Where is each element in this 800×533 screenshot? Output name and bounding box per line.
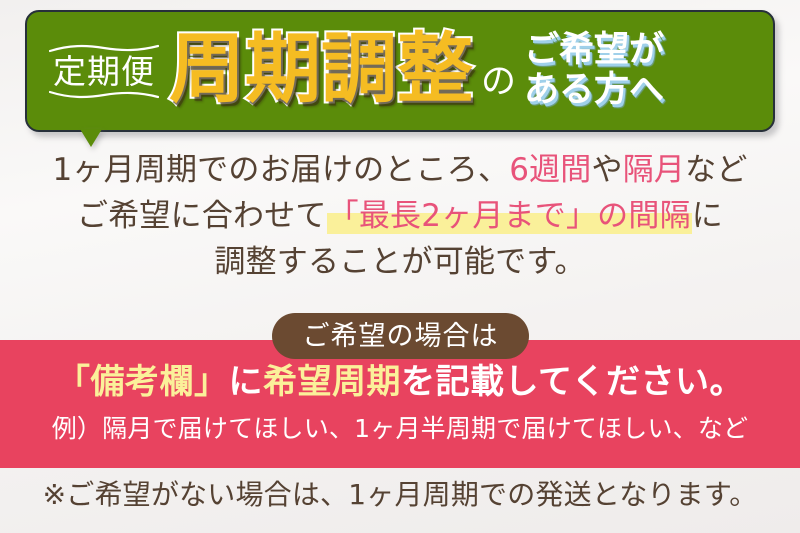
promo-banner: 定期便 周期調整 の ご希望が ある方へ 1ヶ月周期でのお届けのところ、6週間や…: [0, 0, 800, 533]
pink-example-text: 例）隔月で届けてほしい、1ヶ月半周期で届けてほしい、など: [0, 416, 800, 441]
body-line2-part-c: に: [692, 198, 723, 234]
header-wish-line-1: ご希望が: [524, 32, 664, 70]
pink-main-part-b: に: [229, 362, 264, 402]
body-copy-line-2: ご希望に合わせて「最長2ヶ月まで」の間隔に: [0, 194, 800, 240]
wave-rule-bottom-icon: [49, 89, 159, 99]
body-line1-accent-6weeks: 6週間: [509, 152, 591, 188]
body-line2-part-a: ご希望に合わせて: [77, 198, 327, 234]
wave-rule-top-icon: [49, 44, 159, 54]
header-wish-line-2: ある方へ: [524, 72, 664, 110]
pink-main-instruction: 「備考欄」に希望周期を記載してください。: [0, 365, 800, 399]
subscription-badge-label: 定期便: [53, 55, 155, 88]
body-copy-line-3: 調整することが可能です。: [0, 240, 800, 286]
body-line1-accent-bimonthly: 隔月: [623, 152, 685, 188]
pink-accent-desired-cycle: 希望周期: [263, 362, 401, 402]
body-line2-highlight-interval: 「最長2ヶ月まで」の間隔: [327, 198, 692, 234]
pink-accent-remarks-field: 「備考欄」: [56, 362, 229, 402]
footer-note: ※ご希望がない場合は、1ヶ月周期での発送となります。: [0, 481, 800, 509]
subscription-badge: 定期便: [49, 46, 159, 97]
body-line1-part-e: など: [685, 152, 747, 188]
request-case-pill-label: ご希望の場合は: [303, 323, 499, 350]
pink-main-part-d: を記載してください。: [401, 362, 744, 402]
body-copy-line-1: 1ヶ月周期でのお届けのところ、6週間や隔月など: [0, 148, 800, 194]
pink-instruction-band: 「備考欄」に希望周期を記載してください。 例）隔月で届けてほしい、1ヶ月半周期で…: [0, 340, 800, 468]
header-content-row: 定期便 周期調整 の ご希望が ある方へ: [27, 12, 773, 130]
header-main-title: 周期調整: [169, 31, 473, 111]
body-line1-part-c: や: [592, 152, 623, 188]
request-case-pill: ご希望の場合は: [272, 313, 529, 359]
green-header-bubble: 定期便 周期調整 の ご希望が ある方へ: [25, 10, 775, 132]
header-wish-block: ご希望が ある方へ: [524, 32, 664, 110]
speech-bubble-tail-icon: [80, 129, 102, 147]
body-line1-part-a: 1ヶ月周期でのお届けのところ、: [52, 152, 509, 188]
header-particle: の: [481, 65, 516, 100]
body-copy: 1ヶ月周期でのお届けのところ、6週間や隔月など ご希望に合わせて「最長2ヶ月まで…: [0, 148, 800, 286]
